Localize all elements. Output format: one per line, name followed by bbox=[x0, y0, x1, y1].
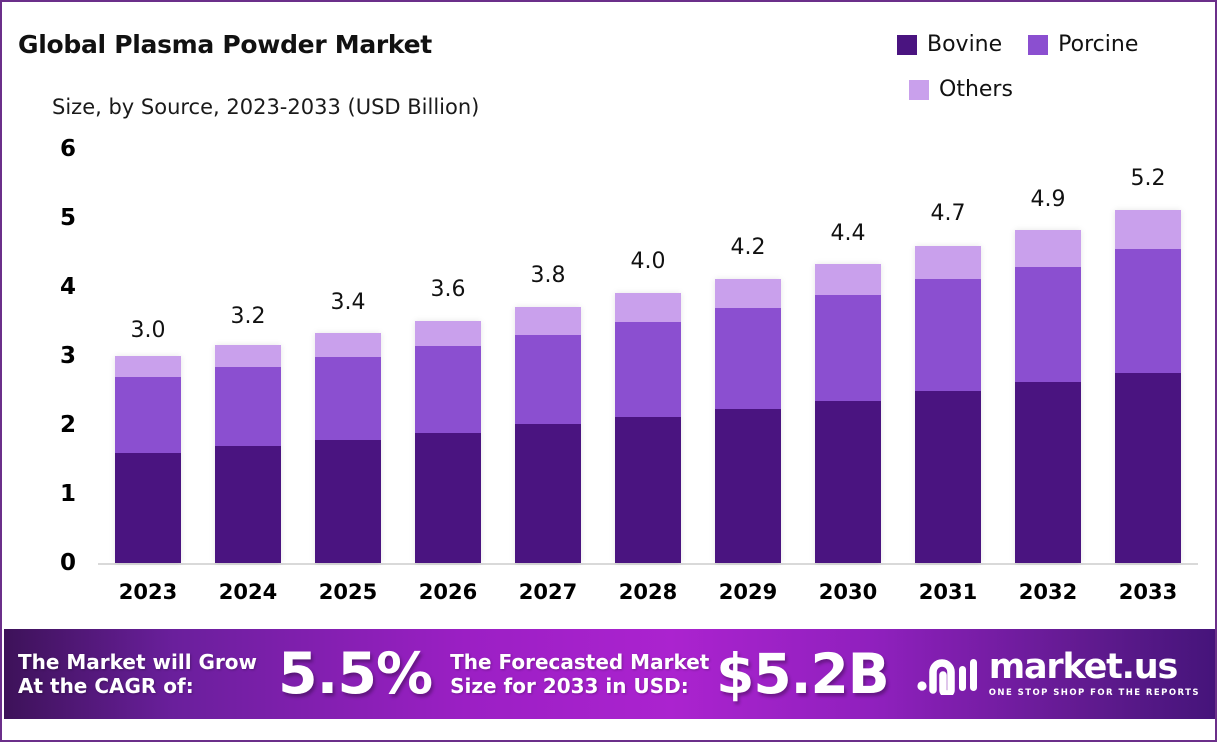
bar-segment-porcine bbox=[515, 335, 581, 425]
bar-stack bbox=[315, 333, 381, 563]
chart-infographic-card: Global Plasma Powder Market Size, by Sou… bbox=[0, 0, 1217, 742]
logo-text: market.us ONE STOP SHOP FOR THE REPORTS bbox=[989, 650, 1200, 698]
bar-segment-bovine bbox=[815, 401, 881, 563]
logo-name: market.us bbox=[989, 650, 1200, 685]
x-axis-tick-2030: 2030 bbox=[819, 580, 877, 604]
market-us-logo[interactable]: market.us ONE STOP SHOP FOR THE REPORTS bbox=[917, 650, 1200, 698]
y-axis-tick-6: 6 bbox=[30, 136, 76, 162]
bar-segment-others bbox=[515, 307, 581, 335]
bar-segment-bovine bbox=[1115, 373, 1181, 563]
bar-segment-porcine bbox=[415, 346, 481, 432]
y-axis-tick-4: 4 bbox=[30, 274, 76, 300]
logo-tagline: ONE STOP SHOP FOR THE REPORTS bbox=[989, 688, 1200, 698]
bar-segment-others bbox=[415, 321, 481, 347]
bar-segment-porcine bbox=[715, 308, 781, 409]
bar-stack bbox=[815, 264, 881, 563]
bar-value-label: 3.4 bbox=[331, 290, 366, 315]
bar-segment-porcine bbox=[215, 367, 281, 446]
x-axis-tick-2026: 2026 bbox=[419, 580, 477, 604]
forecast-size-value: $5.2B bbox=[716, 642, 889, 706]
footer-banner: The Market will Grow At the CAGR of: 5.5… bbox=[4, 629, 1217, 719]
x-axis-tick-2029: 2029 bbox=[719, 580, 777, 604]
x-axis-tick-2027: 2027 bbox=[519, 580, 577, 604]
bar-segment-porcine bbox=[815, 295, 881, 401]
x-axis-tick-2033: 2033 bbox=[1119, 580, 1177, 604]
cagr-value: 5.5% bbox=[278, 641, 432, 707]
bar-value-label: 4.9 bbox=[1031, 187, 1066, 212]
bar-segment-others bbox=[615, 293, 681, 321]
bar-stack bbox=[715, 279, 781, 563]
bar-value-label: 3.8 bbox=[531, 263, 566, 288]
bar-stack bbox=[215, 345, 281, 563]
x-axis-tick-2025: 2025 bbox=[319, 580, 377, 604]
y-axis-tick-2: 2 bbox=[30, 412, 76, 438]
bar-segment-porcine bbox=[315, 357, 381, 440]
x-axis-tick-2023: 2023 bbox=[119, 580, 177, 604]
y-axis-tick-5: 5 bbox=[30, 205, 76, 231]
bar-segment-bovine bbox=[215, 446, 281, 563]
y-axis-tick-1: 1 bbox=[30, 481, 76, 507]
bar-segment-porcine bbox=[1115, 249, 1181, 373]
y-axis-tick-0: 0 bbox=[30, 550, 76, 576]
bar-stack bbox=[415, 321, 481, 563]
bar-segment-bovine bbox=[715, 409, 781, 563]
bar-segment-bovine bbox=[615, 417, 681, 563]
bar-segment-bovine bbox=[115, 453, 181, 563]
bar-value-label: 4.4 bbox=[831, 221, 866, 246]
bar-stack bbox=[915, 246, 981, 563]
bar-segment-bovine bbox=[415, 433, 481, 563]
x-axis-tick-2032: 2032 bbox=[1019, 580, 1077, 604]
bar-stack bbox=[515, 307, 581, 563]
bar-segment-bovine bbox=[1015, 382, 1081, 563]
bar-stack bbox=[1115, 210, 1181, 563]
bar-segment-others bbox=[1115, 210, 1181, 249]
forecast-size-label: The Forecasted Market Size for 2033 in U… bbox=[450, 650, 712, 699]
bar-segment-bovine bbox=[915, 391, 981, 563]
bar-segment-others bbox=[915, 246, 981, 279]
bar-value-label: 3.6 bbox=[431, 277, 466, 302]
bar-segment-bovine bbox=[515, 424, 581, 563]
bar-segment-porcine bbox=[615, 322, 681, 418]
bar-value-label: 4.0 bbox=[631, 249, 666, 274]
x-axis-tick-2024: 2024 bbox=[219, 580, 277, 604]
bar-segment-porcine bbox=[1015, 267, 1081, 382]
cagr-label: The Market will Grow At the CAGR of: bbox=[18, 650, 276, 699]
bar-value-label: 4.2 bbox=[731, 235, 766, 260]
bar-segment-others bbox=[115, 356, 181, 377]
bar-value-label: 3.0 bbox=[131, 318, 166, 343]
bar-stack bbox=[1015, 230, 1081, 563]
bar-segment-porcine bbox=[115, 377, 181, 453]
bar-segment-bovine bbox=[315, 440, 381, 564]
bar-stack bbox=[615, 293, 681, 563]
bar-segment-others bbox=[1015, 230, 1081, 267]
bar-value-label: 3.2 bbox=[231, 304, 266, 329]
logo-mark-icon bbox=[917, 653, 981, 695]
bar-segment-others bbox=[215, 345, 281, 367]
bar-segment-others bbox=[815, 264, 881, 296]
bar-segment-others bbox=[315, 333, 381, 357]
bar-value-label: 4.7 bbox=[931, 201, 966, 226]
bar-segment-others bbox=[715, 279, 781, 309]
bar-segment-porcine bbox=[915, 279, 981, 391]
x-axis-tick-2031: 2031 bbox=[919, 580, 977, 604]
x-axis-tick-2028: 2028 bbox=[619, 580, 677, 604]
bar-value-label: 5.2 bbox=[1131, 166, 1166, 191]
y-axis-tick-3: 3 bbox=[30, 343, 76, 369]
bar-stack bbox=[115, 356, 181, 563]
